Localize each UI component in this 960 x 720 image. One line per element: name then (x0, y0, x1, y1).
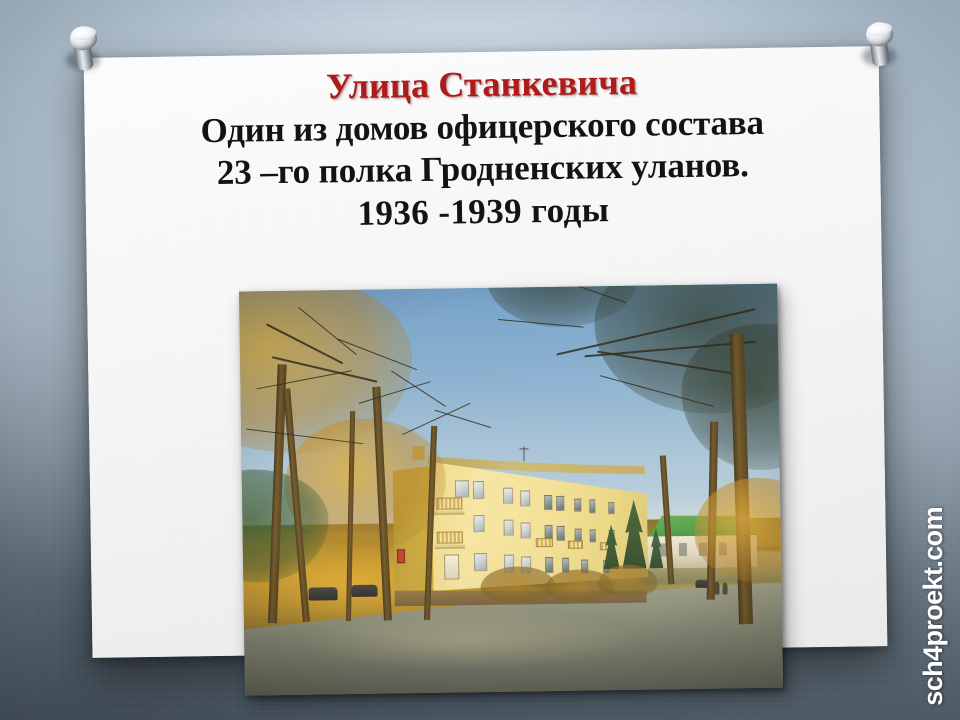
green-building-window (679, 543, 687, 556)
window (520, 522, 530, 538)
watermark: sch4proekt.com (904, 0, 960, 720)
balcony-railing (536, 538, 553, 548)
window (589, 529, 596, 543)
balcony-slab (434, 510, 464, 515)
window (474, 553, 487, 572)
window (473, 515, 485, 533)
presentation-slide: Улица Станкевича Один из домов офицерско… (0, 0, 960, 720)
window (503, 488, 514, 504)
watermark-text: sch4proekt.com (918, 507, 949, 706)
window (544, 495, 553, 510)
window (589, 500, 596, 514)
paper-card: Улица Станкевича Один из домов офицерско… (84, 46, 888, 658)
photo-frame (239, 284, 783, 696)
entrance-door (444, 554, 459, 580)
pedestrian (722, 583, 727, 595)
balcony-railing (437, 531, 463, 543)
road-sunlight (308, 609, 632, 670)
balcony-slab (435, 543, 465, 548)
pedestrian (714, 581, 719, 594)
slide-text-block: Улица Станкевича Один из домов офицерско… (84, 60, 881, 240)
window (520, 490, 530, 506)
balcony-railing (568, 540, 583, 548)
building-photograph (239, 284, 783, 696)
window (503, 520, 514, 536)
roof-antenna (524, 446, 525, 461)
window (545, 557, 554, 573)
window (455, 480, 469, 498)
parked-car (351, 585, 378, 598)
parked-car (308, 587, 338, 600)
bush (598, 564, 658, 597)
house-number-sign (397, 550, 405, 564)
window (473, 481, 485, 499)
window (557, 526, 565, 541)
window (557, 496, 565, 511)
window (608, 502, 614, 514)
window (574, 499, 581, 513)
